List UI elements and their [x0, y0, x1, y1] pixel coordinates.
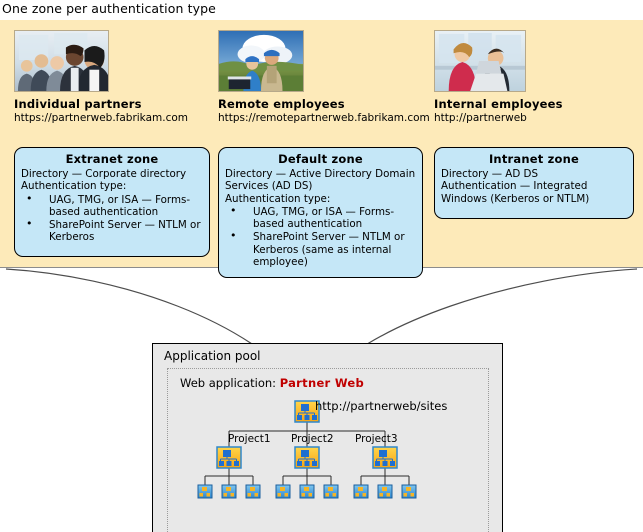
- persona-internal-employees: Internal employees http://partnerweb: [434, 30, 634, 124]
- zone-bullet: SharePoint Server — NTLM or Kerberos (sa…: [225, 231, 416, 268]
- subsite-icon: [246, 485, 260, 498]
- zone-box-extranet: Extranet zone Directory — Corporate dire…: [14, 147, 210, 257]
- subsite-icon: [354, 485, 368, 498]
- zone-box-intranet: Intranet zone Directory — AD DS Authenti…: [434, 147, 634, 219]
- subsite-icon: [402, 485, 416, 498]
- diagram-canvas: One zone per authentication type: [0, 0, 643, 532]
- site-hierarchy-tree: [167, 368, 489, 532]
- office-workers-photo: [434, 30, 526, 92]
- persona-url: https://remotepartnerweb.fabrikam.com: [218, 112, 423, 124]
- zone-line: Directory — Corporate directory: [21, 168, 203, 180]
- persona-name: Internal employees: [434, 97, 634, 111]
- site-collection-icon-project3: [373, 447, 397, 468]
- project-label-1: Project1: [228, 433, 271, 445]
- subsite-icon-group: [198, 485, 416, 498]
- zone-line: Authentication — Integrated Windows (Ker…: [441, 180, 627, 205]
- business-group-photo: [14, 30, 109, 92]
- persona-individual-partners: Individual partners https://partnerweb.f…: [14, 30, 210, 124]
- project-label-2: Project2: [291, 433, 334, 445]
- zone-bullet-list: UAG, TMG, or ISA — Forms-based authentic…: [21, 194, 203, 244]
- zone-title: Extranet zone: [21, 152, 203, 166]
- zone-line: Directory — Active Directory Domain Serv…: [225, 168, 416, 193]
- subsite-icon: [324, 485, 338, 498]
- zone-line: Authentication type:: [225, 193, 416, 205]
- subsite-icon: [276, 485, 290, 498]
- zone-title: Default zone: [225, 152, 416, 166]
- subsite-icon: [198, 485, 212, 498]
- subsite-icon: [222, 485, 236, 498]
- zone-bullet-list: UAG, TMG, or ISA — Forms-based authentic…: [225, 206, 416, 268]
- zone-bullet: UAG, TMG, or ISA — Forms-based authentic…: [21, 194, 203, 219]
- project-label-3: Project3: [355, 433, 398, 445]
- persona-url: http://partnerweb: [434, 112, 634, 124]
- application-pool-label: Application pool: [164, 349, 261, 363]
- root-site-url: http://partnerweb/sites: [315, 399, 447, 413]
- zone-title: Intranet zone: [441, 152, 627, 166]
- field-workers-photo: [218, 30, 304, 92]
- persona-name: Remote employees: [218, 97, 423, 111]
- site-collection-icon-project2: [295, 447, 319, 468]
- subsite-icon: [300, 485, 314, 498]
- subsite-icon: [378, 485, 392, 498]
- persona-remote-employees: Remote employees https://remotepartnerwe…: [218, 30, 423, 124]
- persona-url: https://partnerweb.fabrikam.com: [14, 112, 210, 124]
- zone-box-default: Default zone Directory — Active Director…: [218, 147, 423, 278]
- authentication-zone-panel: Individual partners https://partnerweb.f…: [0, 20, 643, 268]
- page-title: One zone per authentication type: [2, 1, 216, 16]
- zone-bullet: SharePoint Server — NTLM or Kerberos: [21, 219, 203, 244]
- zone-line: Directory — AD DS: [441, 168, 627, 180]
- site-collection-icon-project1: [217, 447, 241, 468]
- zone-bullet: UAG, TMG, or ISA — Forms-based authentic…: [225, 206, 416, 231]
- zone-line: Authentication type:: [21, 180, 203, 192]
- persona-name: Individual partners: [14, 97, 210, 111]
